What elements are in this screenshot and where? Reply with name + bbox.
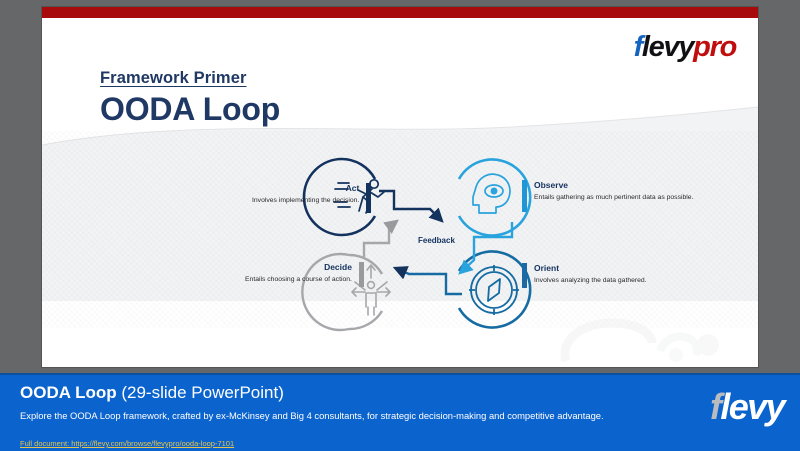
node-body-observe: Entails gathering as much pertinent data… <box>534 193 693 203</box>
node-body-act: Involves implementing the decision. <box>252 196 359 206</box>
accent-bar-act <box>366 183 371 213</box>
footer-description: Explore the OODA Loop framework, crafted… <box>20 409 620 423</box>
node-heading-orient: Orient <box>534 263 647 273</box>
node-label-decide: Decide Entails choosing a course of acti… <box>245 262 364 287</box>
arrow-observe-to-orient <box>460 222 512 273</box>
accent-bar-observe <box>522 180 527 212</box>
footer-top-rule <box>0 373 800 375</box>
footer-title-meta: (29-slide PowerPoint) <box>117 383 284 402</box>
accent-bar-decide <box>359 262 364 287</box>
accent-bar-orient <box>522 263 527 288</box>
arrow-decide-to-act <box>364 221 397 257</box>
node-body-orient: Involves analyzing the data gathered. <box>534 276 647 286</box>
footer-title-name: OODA Loop <box>20 383 117 402</box>
arrow-orient-to-decide <box>395 268 462 294</box>
footer-document-link[interactable]: Full document: https://flevy.com/browse/… <box>20 439 234 448</box>
footer-title: OODA Loop (29-slide PowerPoint) <box>20 383 284 403</box>
compass-icon <box>469 265 519 315</box>
flevy-logo-f: f <box>710 386 720 427</box>
arrow-act-to-observe <box>379 191 442 221</box>
node-label-act: Act Involves implementing the decision. <box>252 183 371 213</box>
node-heading-observe: Observe <box>534 180 693 190</box>
feedback-label: Feedback <box>418 236 455 245</box>
node-label-orient: Orient Involves analyzing the data gathe… <box>522 263 647 288</box>
node-label-observe: Observe Entails gathering as much pertin… <box>522 180 693 212</box>
presentation-slide: Framework Primer OODA Loop flevypro <box>42 7 758 367</box>
document-footer-bar: OODA Loop (29-slide PowerPoint) Explore … <box>0 373 800 451</box>
flevy-logo-levy: levy <box>720 386 784 427</box>
node-heading-decide: Decide <box>324 262 352 272</box>
head-with-eye-icon <box>473 174 510 213</box>
node-body-decide: Entails choosing a course of action. <box>245 275 352 285</box>
node-heading-act: Act <box>346 183 360 193</box>
flevy-logo[interactable]: flevy <box>710 389 784 425</box>
